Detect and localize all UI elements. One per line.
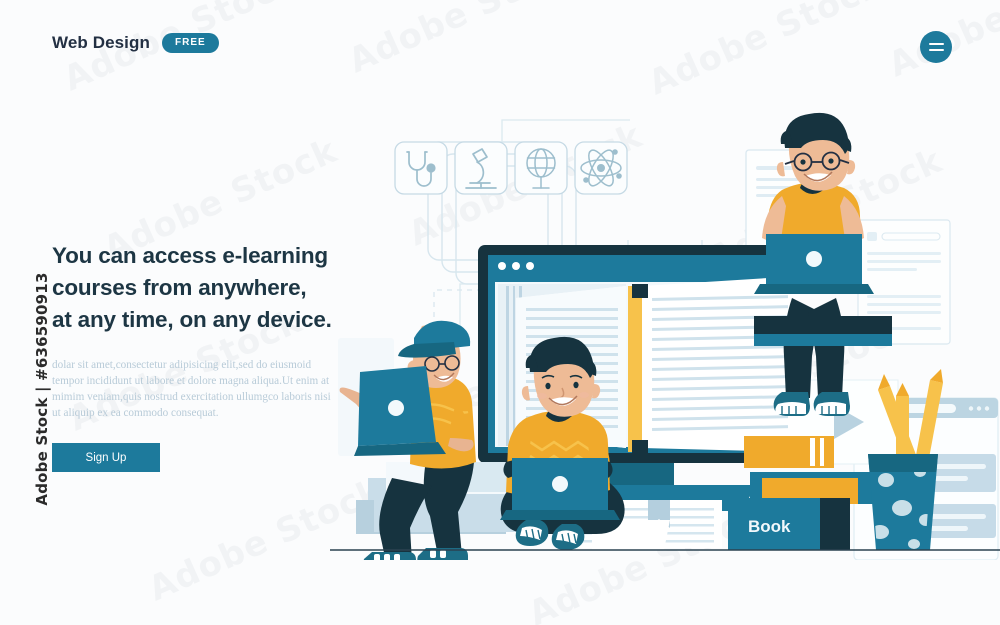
subject-card-globe bbox=[515, 142, 567, 194]
window-dot bbox=[526, 262, 534, 270]
headline-line: You can access e-learning bbox=[52, 240, 352, 272]
hero-paragraph: dolar sit amet,consectetur adipisicing e… bbox=[52, 358, 342, 422]
sign-up-button[interactable]: Sign Up bbox=[52, 443, 160, 472]
hamburger-bar bbox=[929, 43, 944, 45]
site-header: Web Design FREE bbox=[52, 33, 219, 53]
subject-card-stethoscope bbox=[395, 142, 447, 194]
hero-copy: You can access e-learning courses from a… bbox=[52, 240, 352, 472]
adobe-stock-watermark: Adobe Stock | #636590913 bbox=[33, 259, 51, 519]
book-label: Book bbox=[748, 517, 791, 536]
hero-illustration: Book bbox=[330, 80, 1000, 560]
window-dot bbox=[512, 262, 520, 270]
page-canvas: Adobe Stock Adobe Stock Adobe Stock Adob… bbox=[0, 0, 1000, 625]
subject-card-atom bbox=[575, 142, 627, 194]
page-title: Web Design bbox=[52, 33, 150, 53]
hero-headline: You can access e-learning courses from a… bbox=[52, 240, 352, 336]
free-badge: FREE bbox=[162, 33, 219, 53]
headline-line: at any time, on any device. bbox=[52, 304, 352, 336]
laptop bbox=[754, 234, 874, 294]
hamburger-icon[interactable] bbox=[920, 31, 952, 63]
headline-line: courses from anywhere, bbox=[52, 272, 352, 304]
window-dot bbox=[498, 262, 506, 270]
laptop bbox=[500, 458, 620, 520]
watermark-tile: Adobe Stock bbox=[343, 0, 589, 81]
hamburger-bar bbox=[929, 49, 944, 51]
bookmark-strip bbox=[628, 286, 642, 452]
subject-card-microscope bbox=[455, 142, 507, 194]
subject-icon-cards bbox=[395, 142, 627, 194]
